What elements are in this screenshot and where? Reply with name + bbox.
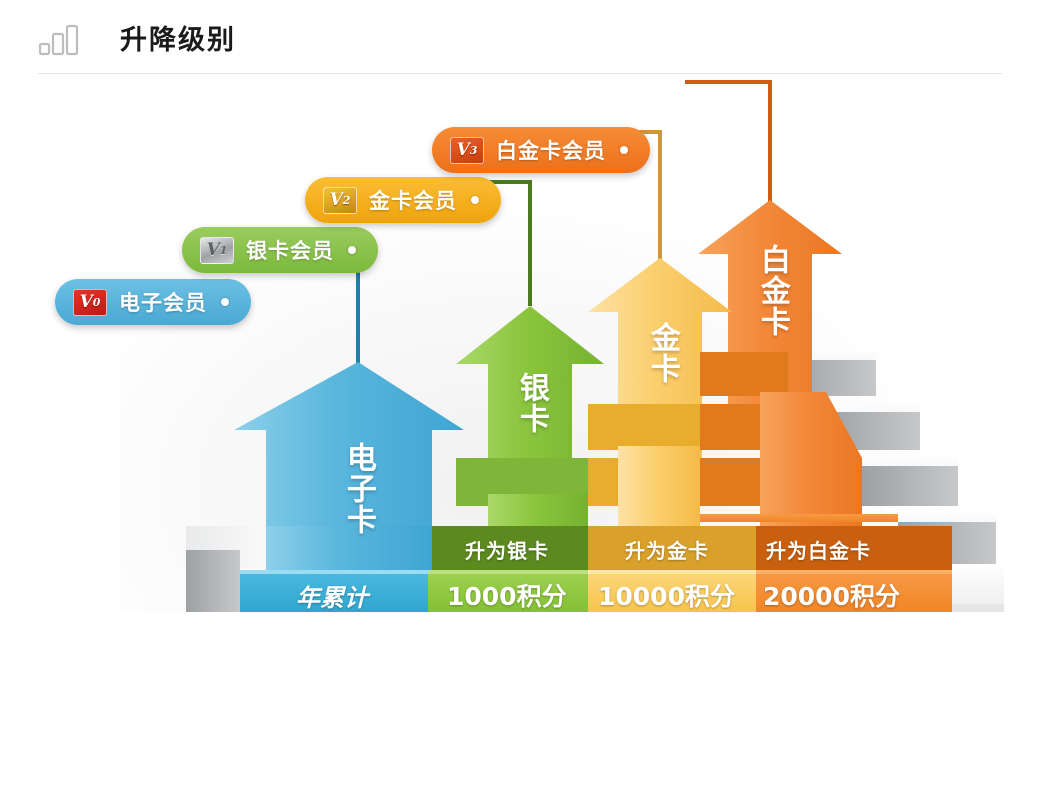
badge-platinum-dot <box>620 146 628 154</box>
v3-chip: V3 <box>450 137 484 164</box>
page-footer: 降级条件 年度积分： 年累计＜5000积分，降级为电子会员 年累计＜10000积… <box>0 612 1040 804</box>
badge-electronic-label: 电子会员 <box>119 287 207 317</box>
badge-platinum-label: 白金卡会员 <box>496 135 606 165</box>
badge-platinum[interactable]: V3 白金卡会员 <box>432 127 650 173</box>
page-header: 升降级别 <box>0 0 1040 74</box>
badge-silver[interactable]: V1 银卡会员 <box>182 227 378 273</box>
badge-silver-dot <box>348 246 356 254</box>
slide-root: 升降级别 <box>0 0 1040 804</box>
badge-silver-label: 银卡会员 <box>246 235 334 265</box>
v1-chip: V1 <box>200 237 234 264</box>
v0-chip: V0 <box>73 289 107 316</box>
page-title: 升降级别 <box>120 18 236 57</box>
badge-gold-dot <box>471 196 479 204</box>
v2-chip: V2 <box>323 187 357 214</box>
badge-gold-label: 金卡会员 <box>369 185 457 215</box>
badge-gold[interactable]: V2 金卡会员 <box>305 177 501 223</box>
step-silver-shape <box>428 458 588 619</box>
diagram-stage: 电子卡 银卡 金卡 白金卡 升为银卡 升为金卡 升为白金卡 年累计 1000积分… <box>0 74 1040 619</box>
bar-chart-icon <box>38 24 82 58</box>
badge-electronic-dot <box>221 298 229 306</box>
badge-electronic[interactable]: V0 电子会员 <box>55 279 251 325</box>
step-electronic-shape <box>240 526 432 619</box>
